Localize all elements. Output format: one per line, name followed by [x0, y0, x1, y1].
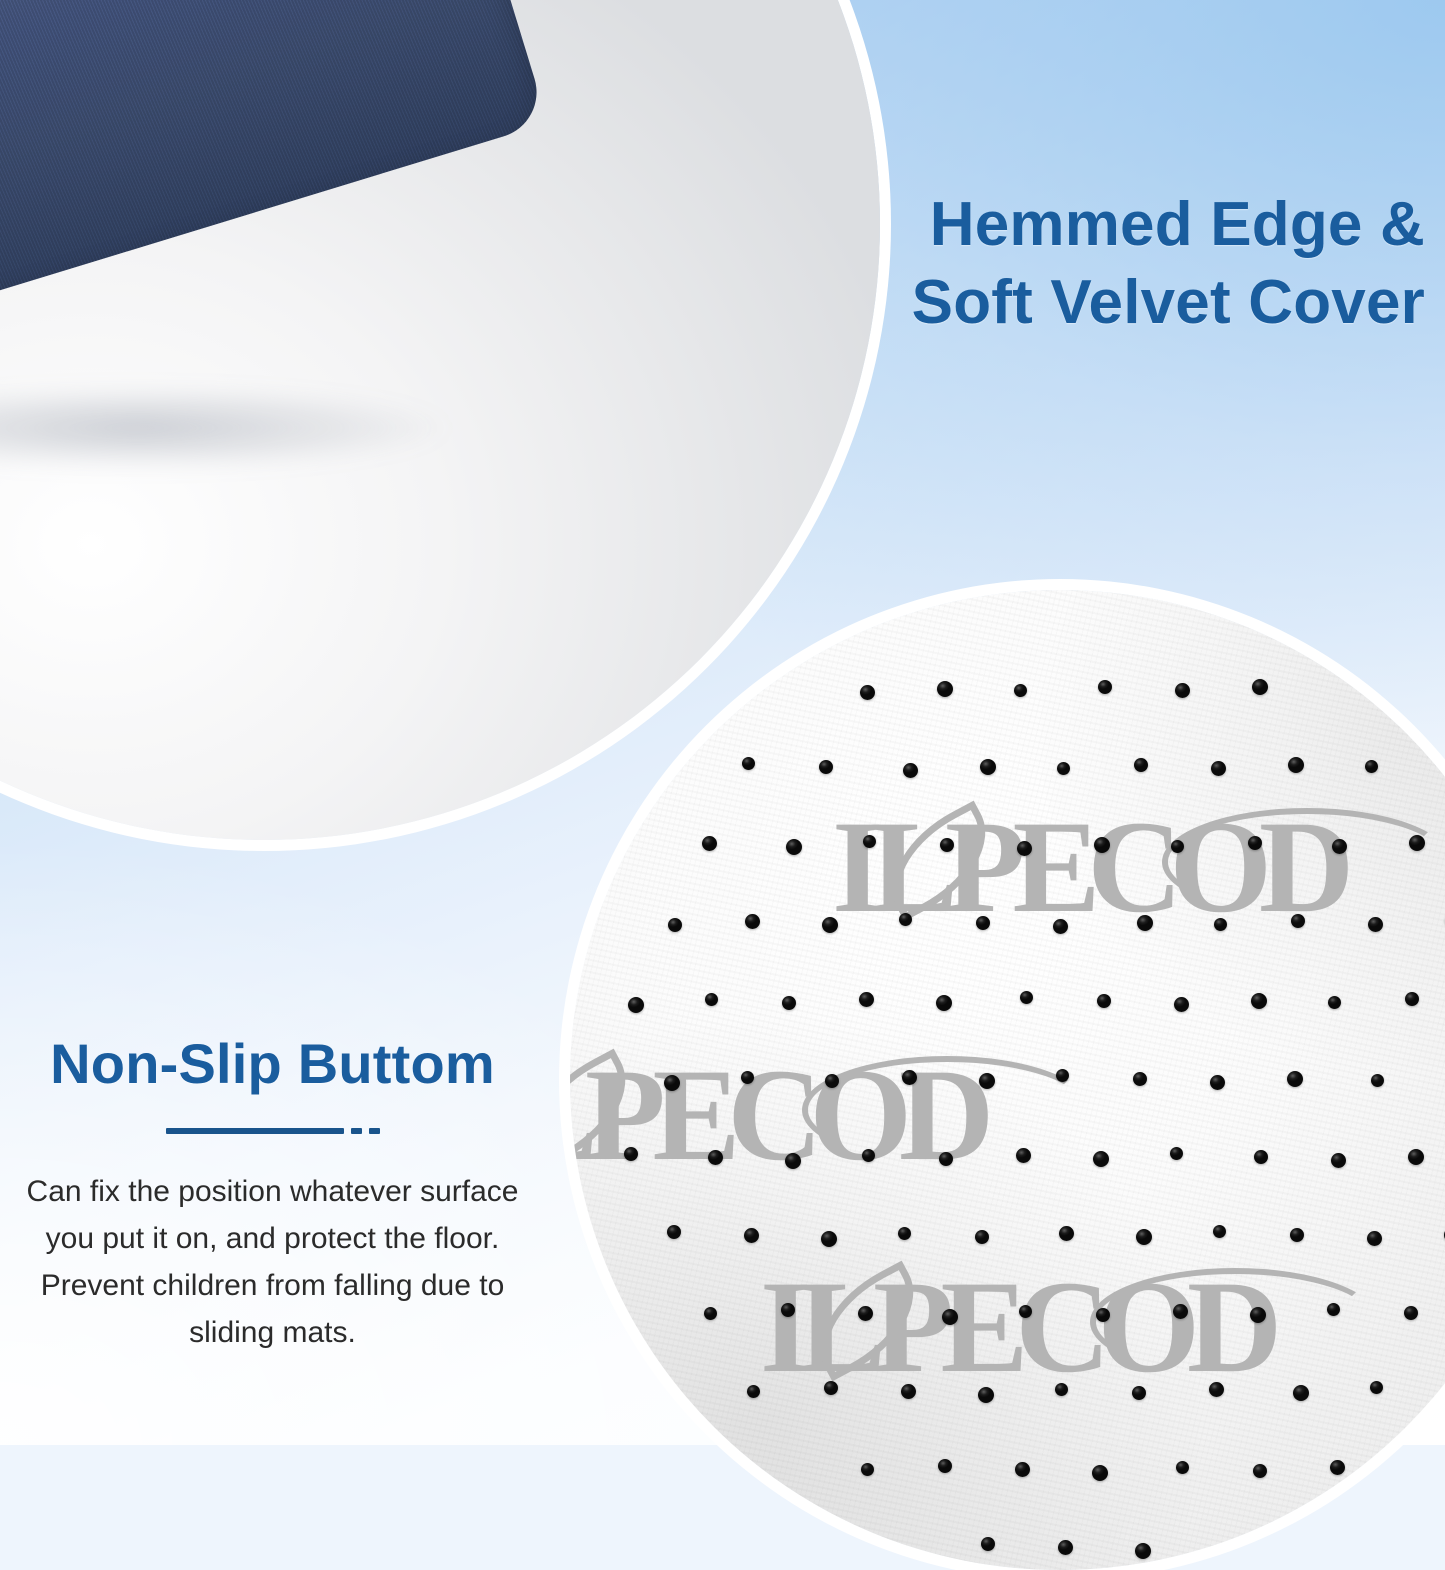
grip-dot [1136, 1229, 1152, 1245]
brand-watermark: ILPECOD [760, 1250, 1269, 1403]
feature-description-line: you put it on, and protect the floor. [0, 1215, 545, 1262]
grip-dot [858, 1306, 873, 1321]
grip-dot [1253, 1464, 1267, 1478]
grip-dot [1057, 762, 1070, 775]
grip-dot [980, 759, 996, 775]
grip-dot [1214, 918, 1227, 931]
grip-dot [1252, 679, 1268, 695]
grip-dot [1327, 1303, 1340, 1316]
grip-dot [1020, 991, 1033, 1004]
grip-dot [1293, 1385, 1309, 1401]
grip-dot [1017, 841, 1032, 856]
grip-dot [1370, 1381, 1383, 1394]
grip-dot [1404, 1306, 1418, 1320]
divider-dash-2 [369, 1128, 380, 1134]
grip-dot [1371, 1074, 1384, 1087]
divider-dash-1 [351, 1128, 362, 1134]
grip-dot [1016, 1148, 1031, 1163]
feature-description-line: sliding mats. [0, 1309, 545, 1356]
grip-dot [708, 1150, 723, 1165]
grip-dot [1097, 994, 1111, 1008]
grip-dot [819, 760, 833, 774]
grip-dot [1135, 1543, 1151, 1559]
grip-dot [1287, 1071, 1303, 1087]
grip-dot [1176, 1461, 1189, 1474]
grip-dot [901, 1384, 916, 1399]
grip-dot [1213, 1225, 1226, 1238]
swash-flourish-icon [802, 1056, 1092, 1164]
grip-dot [1134, 758, 1148, 772]
grip-dot [1173, 1304, 1188, 1319]
grip-dot [1254, 1150, 1268, 1164]
grip-dot [1137, 915, 1153, 931]
grip-dot [902, 1070, 917, 1085]
grip-dot [1174, 997, 1189, 1012]
grip-dot [863, 835, 876, 848]
grip-dot [1094, 837, 1110, 853]
grip-dot [742, 757, 755, 770]
grip-dot [1248, 836, 1262, 850]
grip-dot [1210, 1075, 1225, 1090]
grip-dot [1409, 835, 1425, 851]
grip-dot [1098, 680, 1112, 694]
grip-dot [1408, 1149, 1424, 1165]
grip-dot [702, 836, 717, 851]
grip-dot [978, 1387, 994, 1403]
grip-dot [936, 995, 952, 1011]
grip-dot [664, 1075, 680, 1091]
grip-dot [862, 1149, 875, 1162]
swash-flourish-icon [1162, 808, 1445, 916]
feature-title: Non-Slip Buttom [0, 1030, 545, 1098]
feature-block: Non-Slip Buttom Can fix the position wha… [0, 1030, 545, 1356]
feature-description-line: Prevent children from falling due to [0, 1262, 545, 1309]
grip-dot [939, 1152, 953, 1166]
grip-dot [981, 1537, 995, 1551]
grip-dot [898, 1227, 911, 1240]
grip-dot [1328, 996, 1341, 1009]
headline-line-2: Soft Velvet Cover [912, 264, 1425, 342]
grip-dot [628, 997, 644, 1013]
grip-dot [1059, 1226, 1074, 1241]
grip-dot [1171, 840, 1184, 853]
grip-dot [1367, 1231, 1382, 1246]
grip-dot [1291, 914, 1305, 928]
grip-dot [1096, 1308, 1110, 1322]
grip-dot [1133, 1072, 1147, 1086]
grip-dot [744, 1228, 759, 1243]
grip-dot [667, 1225, 681, 1239]
headline-line-1: Hemmed Edge & [912, 186, 1425, 264]
grip-dot [704, 1307, 717, 1320]
grip-dot [782, 996, 796, 1010]
grip-dot [1014, 684, 1027, 697]
grip-dot [745, 914, 760, 929]
grip-dot [781, 1303, 795, 1317]
grip-dot [785, 1153, 801, 1169]
grip-dot [668, 918, 682, 932]
grip-dot [1332, 839, 1347, 854]
grip-dot [786, 839, 802, 855]
grip-dot [1211, 761, 1226, 776]
grip-dot [825, 1074, 839, 1088]
grip-dot [1331, 1153, 1346, 1168]
grip-dot [1288, 757, 1304, 773]
grip-dot [1368, 917, 1383, 932]
feature-description-line: Can fix the position whatever surface [0, 1168, 545, 1215]
grip-dot [624, 1147, 638, 1161]
grip-dot [822, 917, 838, 933]
grip-dot [1019, 1305, 1032, 1318]
product-photo-non-slip-mat: ILPECOD ILPECOD ILPECOD [570, 590, 1445, 1570]
grip-dot [976, 916, 990, 930]
divider-bar [166, 1128, 344, 1134]
grip-dot [741, 1071, 754, 1084]
grip-dot [903, 763, 918, 778]
grip-dot [975, 1230, 989, 1244]
grip-dot [942, 1309, 958, 1325]
page-headline: Hemmed Edge & Soft Velvet Cover [912, 186, 1425, 342]
grip-dot [937, 681, 953, 697]
grip-dot [1251, 993, 1267, 1009]
grip-dot [860, 685, 875, 700]
grip-dot [747, 1385, 760, 1398]
grip-dot [1365, 760, 1378, 773]
grip-dot [821, 1231, 837, 1247]
grip-dot [1055, 1383, 1068, 1396]
grip-dot [938, 1459, 952, 1473]
cushion-front-face [0, 0, 548, 399]
feature-description: Can fix the position whatever surfaceyou… [0, 1168, 545, 1356]
grip-dot [1290, 1228, 1304, 1242]
grip-dot [1015, 1462, 1030, 1477]
grip-dot [1092, 1465, 1108, 1481]
grip-dot [940, 838, 954, 852]
grip-dot [899, 913, 912, 926]
grip-dot [1250, 1307, 1266, 1323]
grip-dot [824, 1381, 838, 1395]
grip-dot [1209, 1382, 1224, 1397]
grip-dot [1053, 919, 1068, 934]
grip-dot [1058, 1540, 1073, 1555]
grip-dot [861, 1463, 874, 1476]
grip-dot [859, 992, 874, 1007]
grip-dot [1170, 1147, 1183, 1160]
grip-dot [1056, 1069, 1069, 1082]
swash-flourish-icon [1090, 1268, 1380, 1376]
grip-dot [979, 1073, 995, 1089]
grip-dot [1132, 1386, 1146, 1400]
grip-dot [705, 993, 718, 1006]
grip-dot [1330, 1460, 1345, 1475]
brand-watermark: ILPECOD [570, 1038, 981, 1191]
divider [0, 1128, 545, 1134]
grip-dot [1405, 992, 1419, 1006]
grip-dot [1093, 1151, 1109, 1167]
grip-dot [1175, 683, 1190, 698]
